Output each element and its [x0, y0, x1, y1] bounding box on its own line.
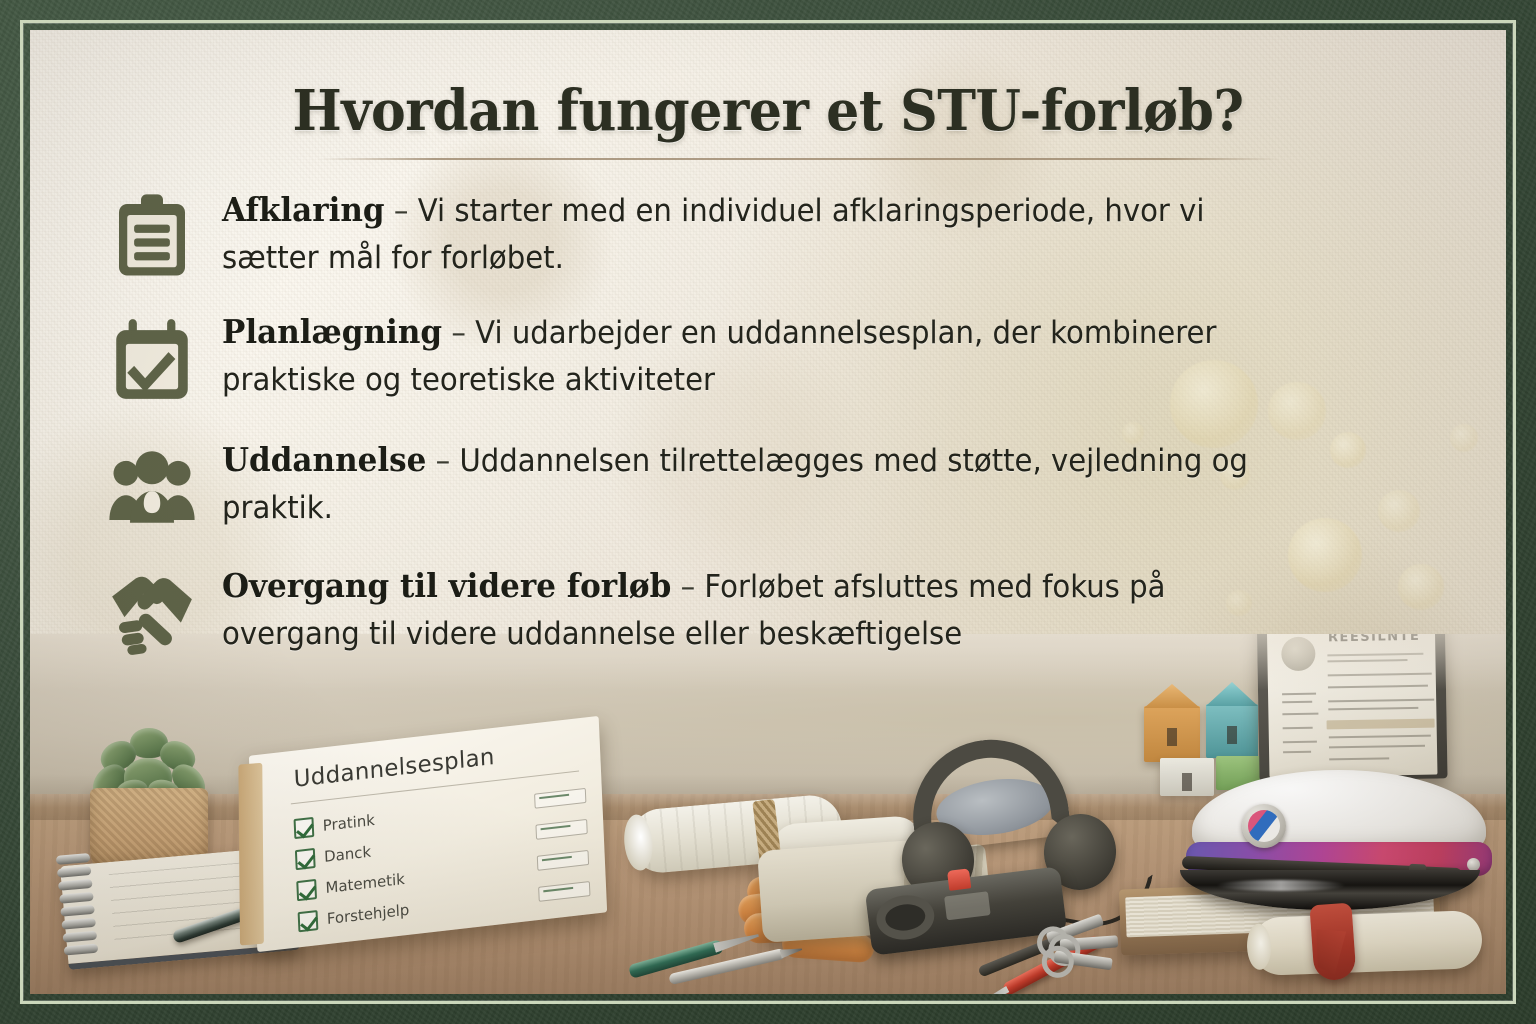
- plan-item-label: Matemetik: [325, 869, 405, 896]
- diploma-scroll: [1251, 910, 1483, 976]
- plan-item-note: [537, 850, 589, 871]
- handshake-icon: [104, 565, 200, 661]
- step-item-uddannelse: Uddannelse – Uddannelsen tilrettelægges …: [104, 435, 1334, 535]
- step-item-afklaring: Afklaring – Vi starter med en individuel…: [104, 185, 1334, 285]
- plan-checklist: Pratink Danck Matemetik: [293, 780, 591, 937]
- cap-badge-icon: [1242, 804, 1286, 848]
- step-dash: –: [671, 569, 704, 605]
- step-lead: Planlægning: [222, 312, 442, 351]
- plan-title: Uddannelsesplan: [293, 744, 495, 793]
- clipboard-icon: [104, 189, 200, 285]
- step-lead: Overgang til videre forløb: [222, 566, 671, 605]
- uddannelsesplan-sheet: Uddannelsesplan Pratink Danck: [249, 716, 607, 952]
- page-title: Hvordan fungerer et STU-forløb?: [82, 78, 1455, 144]
- meter-display: [944, 891, 991, 920]
- step-lead: Uddannelse: [222, 440, 426, 479]
- meter-red-knob: [947, 868, 971, 891]
- step-dash: –: [426, 443, 459, 479]
- title-divider: [318, 158, 1280, 160]
- checkbox-icon: [295, 847, 316, 869]
- model-house-teal: [1206, 704, 1258, 758]
- checkbox-icon: [298, 909, 319, 931]
- step-dash: –: [442, 315, 475, 351]
- plan-item-note: [534, 788, 586, 809]
- step-item-planlaegning: Planlægning – Vi udarbejder en uddannels…: [104, 307, 1334, 407]
- paper-canvas: Hvordan fungerer et STU-forløb?: [30, 30, 1506, 994]
- plan-item-note: [538, 881, 590, 902]
- page-title-wrap: Hvordan fungerer et STU-forløb?: [30, 78, 1506, 144]
- people-group-icon: [104, 439, 200, 535]
- step-text: Afklaring – Vi starter med en individuel…: [222, 185, 1267, 281]
- checkbox-icon: [294, 816, 315, 838]
- step-lead: Afklaring: [222, 190, 385, 229]
- desk-photo-scene: REESILNTE: [30, 634, 1506, 994]
- diploma-ribbon: [1309, 903, 1356, 982]
- checkbox-icon: [296, 878, 317, 900]
- step-text: Planlægning – Vi udarbejder en uddannels…: [222, 307, 1267, 403]
- model-house-orange: [1144, 706, 1200, 762]
- step-item-overgang: Overgang til videre forløb – Forløbet af…: [104, 561, 1334, 661]
- resume-title: REESILNTE: [1328, 634, 1421, 645]
- step-text: Uddannelse – Uddannelsen tilrettelægges …: [222, 435, 1267, 531]
- calendar-check-icon: [104, 311, 200, 407]
- step-text: Overgang til videre forløb – Forløbet af…: [222, 561, 1267, 657]
- step-dash: –: [385, 193, 418, 229]
- plan-item-note: [535, 819, 587, 840]
- plan-item-label: Pratink: [322, 810, 375, 834]
- plan-item-label: Forstehjelp: [326, 900, 409, 927]
- poster-root: Hvordan fungerer et STU-forløb?: [0, 0, 1536, 1024]
- steps-list: Afklaring – Vi starter med en individuel…: [104, 185, 1334, 675]
- plan-item-label: Danck: [324, 842, 372, 865]
- meter-clamp-jaw: [874, 892, 937, 943]
- student-cap: [1180, 770, 1498, 906]
